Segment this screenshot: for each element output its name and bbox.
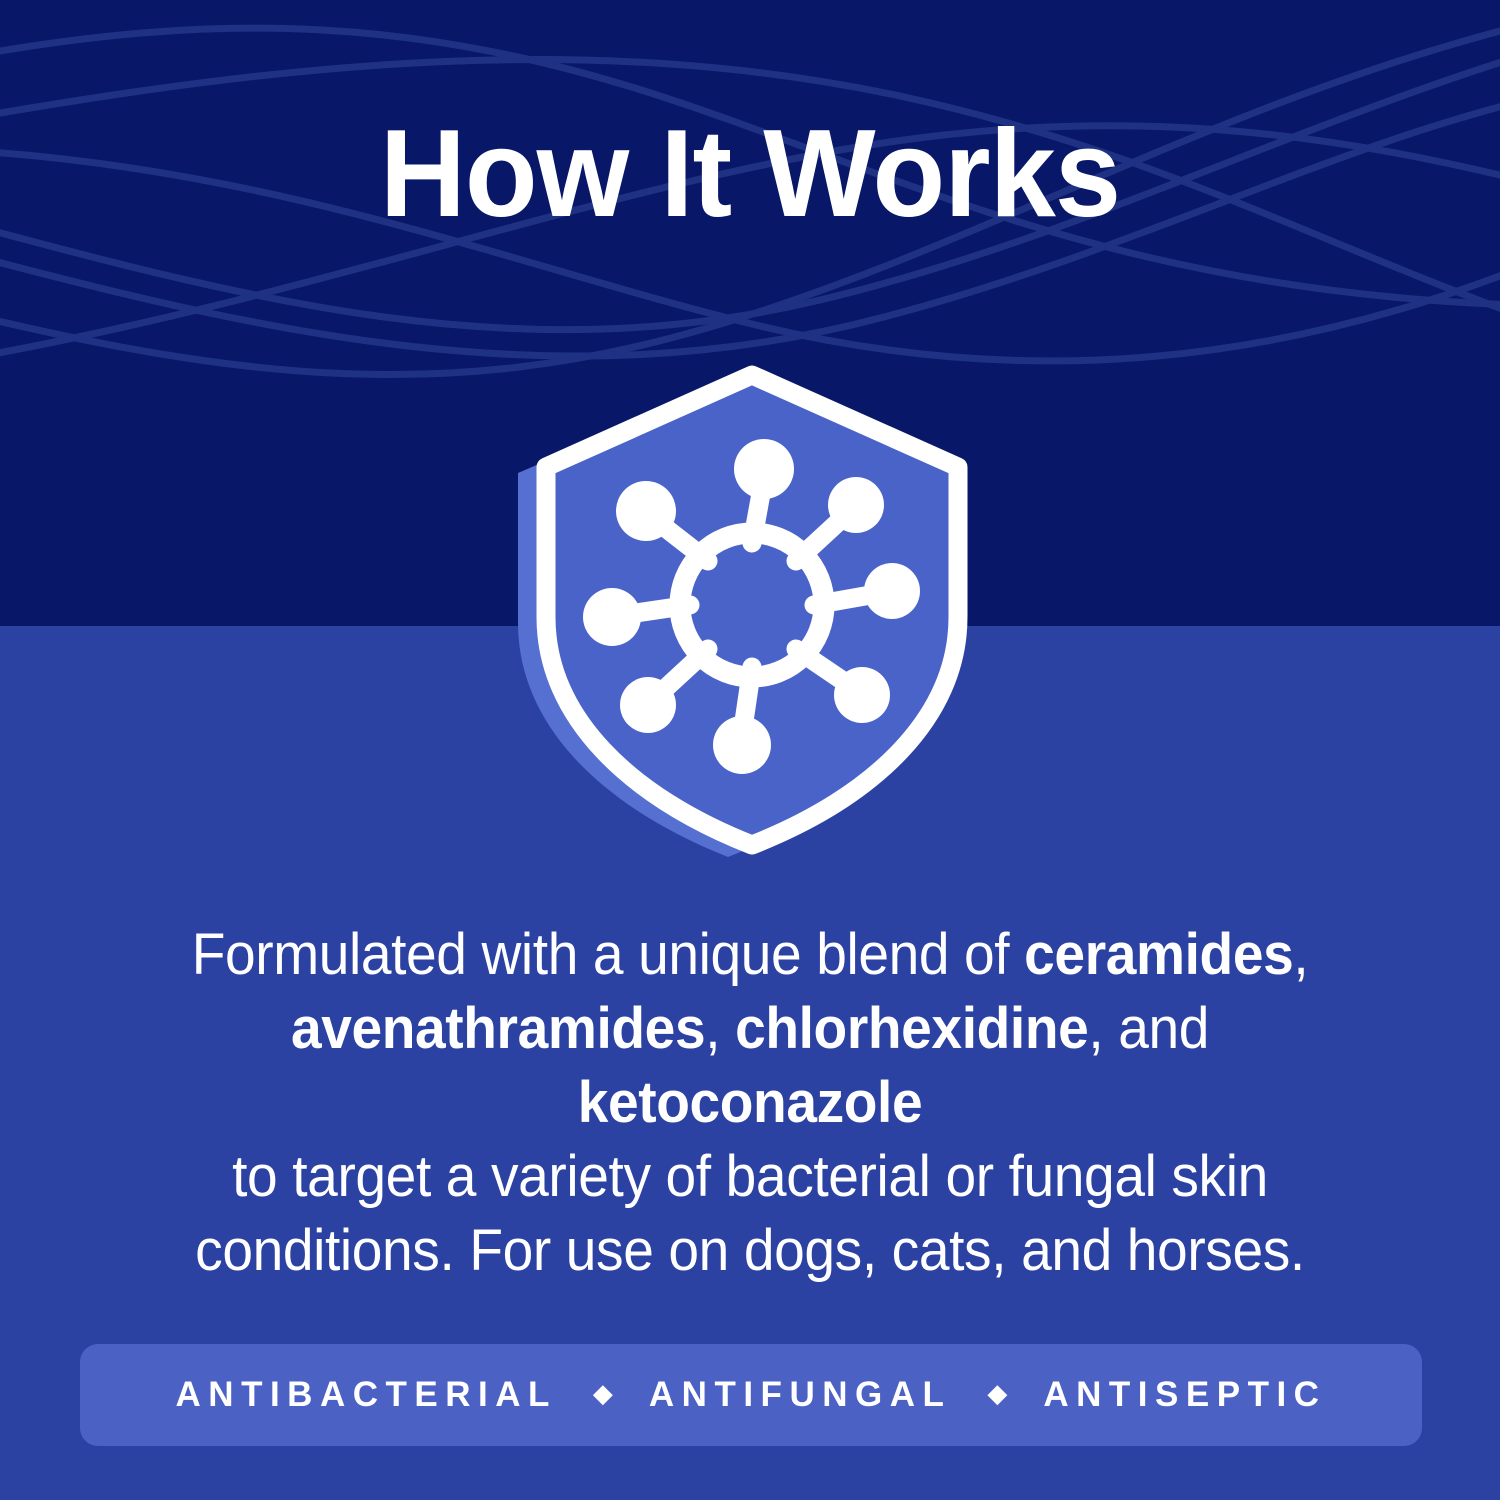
body-text-run: ,	[705, 996, 735, 1061]
ingredient-name: chlorhexidine	[735, 996, 1088, 1061]
badge-separator-2: ◆	[951, 1380, 1043, 1406]
line-content: conditions. For use on dogs, cats, and h…	[195, 1218, 1305, 1283]
ingredient-name: ceramides	[1024, 922, 1293, 987]
how-it-works-panel: How It Works	[0, 0, 1500, 1500]
badge-antifungal: ANTIFUNGAL	[649, 1375, 951, 1415]
description-line: conditions. For use on dogs, cats, and h…	[142, 1214, 1358, 1288]
description-line: Formulated with a unique blend of cerami…	[142, 918, 1358, 992]
body-text-run: , and	[1088, 996, 1209, 1061]
badge-antiseptic: ANTISEPTIC	[1043, 1375, 1326, 1415]
ingredient-name: ketoconazole	[578, 1070, 923, 1135]
badge-antibacterial: ANTIBACTERIAL	[176, 1375, 557, 1415]
page-title: How It Works	[30, 112, 1470, 236]
body-text-run: conditions. For use on dogs, cats, and h…	[195, 1218, 1305, 1283]
body-text-run: ,	[1293, 922, 1308, 987]
line-content: avenathramides, chlorhexidine, and ketoc…	[291, 996, 1209, 1135]
description-line: to target a variety of bacterial or fung…	[142, 1140, 1358, 1214]
description-line: avenathramides, chlorhexidine, and ketoc…	[142, 992, 1358, 1140]
line-content: to target a variety of bacterial or fung…	[232, 1144, 1268, 1209]
body-text-run: Formulated with a unique blend of	[192, 922, 1024, 987]
line-content: Formulated with a unique blend of cerami…	[192, 922, 1309, 987]
body-text-run: to target a variety of bacterial or fung…	[232, 1144, 1268, 1209]
description-text: Formulated with a unique blend of cerami…	[142, 918, 1358, 1288]
ingredient-name: avenathramides	[291, 996, 705, 1061]
shield-germ-icon	[490, 355, 1020, 870]
badge-separator-1: ◆	[557, 1380, 649, 1406]
feature-badge-bar: ANTIBACTERIAL ◆ ANTIFUNGAL ◆ ANTISEPTIC	[80, 1344, 1422, 1446]
